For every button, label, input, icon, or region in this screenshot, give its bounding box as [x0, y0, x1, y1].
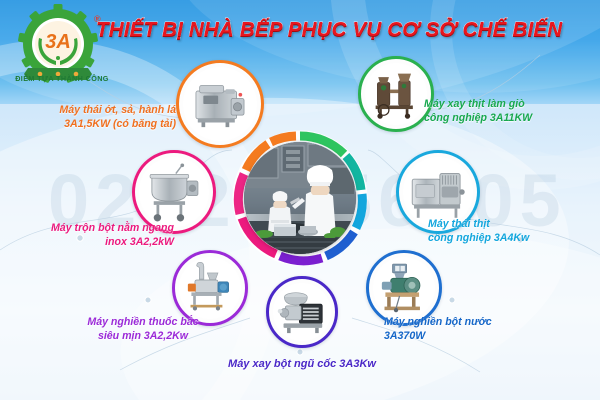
machine-image-may-xay-bot-ngu-coc: [273, 283, 331, 341]
product-node-may-xay-thit-lam-gio[interactable]: [358, 56, 434, 132]
center-hub: [232, 130, 368, 266]
product-node-may-nghien-thuoc-bac[interactable]: [172, 250, 248, 326]
product-label-may-thai-thit-cong-nghiep: Máy thái thịt công nghiệp 3A4Kw: [428, 218, 594, 245]
product-label-may-tron-bot-nam-ngang: Máy trộn bột nằm ngang inox 3A2,2kW: [2, 222, 174, 249]
product-label-may-xay-thit-lam-gio: Máy xay thịt làm giò công nghiệp 3A11KW: [424, 98, 596, 125]
product-node-may-xay-bot-ngu-coc[interactable]: [266, 276, 338, 348]
svg-text:3A: 3A: [45, 31, 71, 53]
machine-image-may-tron-bot-nam-ngang: [139, 157, 209, 227]
machine-image-may-nghien-bot-nuoc: [373, 257, 435, 319]
product-label-may-nghien-thuoc-bac: Máy nghiền thuốc bắc siêu mịn 3A2,2Kw: [52, 316, 234, 343]
page-title: THIẾT BỊ NHÀ BẾP PHỤC VỤ CƠ SỞ CHẾ BIẾN: [96, 18, 586, 42]
product-node-may-thai-ot-sa-hanh-la[interactable]: [176, 60, 264, 148]
machine-image-may-thai-ot-sa-hanh-la: [183, 67, 257, 141]
product-node-may-nghien-bot-nuoc[interactable]: [366, 250, 442, 326]
brand-logo: 3A ® ĐIỂM TỰA THÀNH CÔNG: [6, 4, 110, 88]
kitchen-photo: [244, 142, 356, 254]
logo-tagline: ĐIỂM TỰA THÀNH CÔNG: [10, 74, 114, 83]
product-label-may-nghien-bot-nuoc: Máy nghiền bột nước 3A370W: [384, 316, 564, 343]
machine-image-may-nghien-thuoc-bac: [179, 257, 241, 319]
product-label-may-thai-ot-sa-hanh-la: Máy thái ớt, sả, hành lá 3A1,5KW (có băn…: [14, 104, 176, 131]
machine-image-may-xay-thit-lam-gio: [365, 63, 427, 125]
machine-image-may-thai-thit-cong-nghiep: [403, 157, 473, 227]
product-label-may-xay-bot-ngu-coc: Máy xay bột ngũ cốc 3A3Kw: [182, 358, 422, 372]
kitchen-scene-illustration: [244, 142, 356, 254]
